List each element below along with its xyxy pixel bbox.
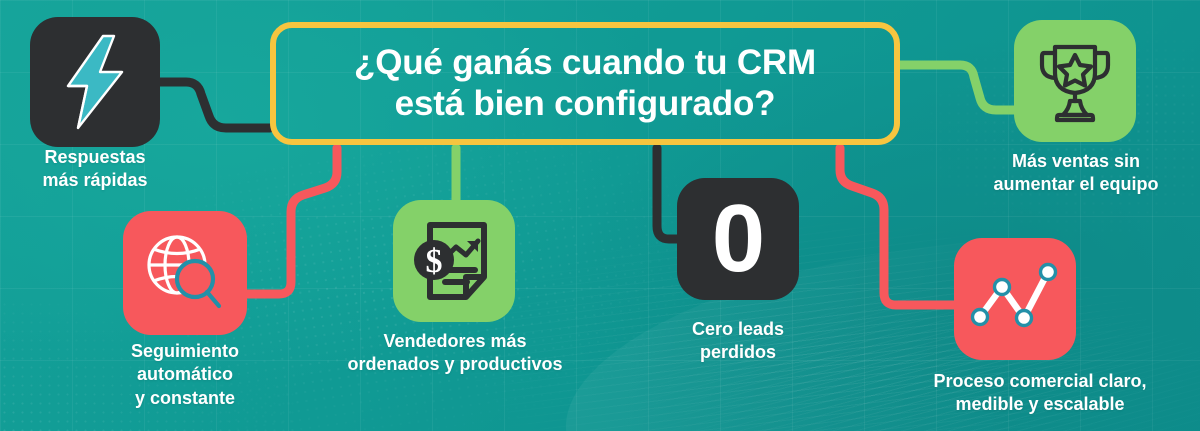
connector-respuestas bbox=[160, 82, 270, 128]
connector-mas-ventas bbox=[900, 65, 1014, 110]
page-title: ¿Qué ganás cuando tu CRM está bien confi… bbox=[354, 43, 816, 124]
label-cero-leads: Cero leads perdidos bbox=[648, 318, 828, 365]
label-vendedores: Vendedores más ordenados y productivos bbox=[324, 330, 586, 377]
line-chart-icon bbox=[968, 260, 1062, 338]
connector-seguimiento bbox=[247, 148, 337, 294]
zero-digit-icon: 0 bbox=[712, 191, 764, 287]
label-seguimiento: Seguimiento automático y constante bbox=[95, 340, 275, 410]
card-mas-ventas[interactable] bbox=[1014, 20, 1136, 142]
card-seguimiento[interactable] bbox=[123, 211, 247, 335]
card-proceso[interactable] bbox=[954, 238, 1076, 360]
lightning-bolt-icon bbox=[56, 34, 134, 130]
document-chart-dollar-icon: $ bbox=[408, 215, 500, 307]
card-respuestas[interactable] bbox=[30, 17, 160, 147]
main-question-box: ¿Qué ganás cuando tu CRM está bien confi… bbox=[270, 22, 900, 145]
label-respuestas: Respuestas más rápidas bbox=[0, 146, 190, 193]
card-cero-leads[interactable]: 0 bbox=[677, 178, 799, 300]
card-vendedores[interactable]: $ bbox=[393, 200, 515, 322]
label-proceso: Proceso comercial claro, medible y escal… bbox=[880, 370, 1200, 417]
globe-search-icon bbox=[139, 227, 231, 319]
connector-proceso bbox=[840, 148, 954, 305]
trophy-star-icon bbox=[1029, 35, 1121, 127]
infographic-canvas: ¿Qué ganás cuando tu CRM está bien confi… bbox=[0, 0, 1200, 431]
svg-text:$: $ bbox=[426, 243, 443, 280]
connector-cero-leads bbox=[657, 148, 677, 239]
label-mas-ventas: Más ventas sin aumentar el equipo bbox=[952, 150, 1200, 197]
